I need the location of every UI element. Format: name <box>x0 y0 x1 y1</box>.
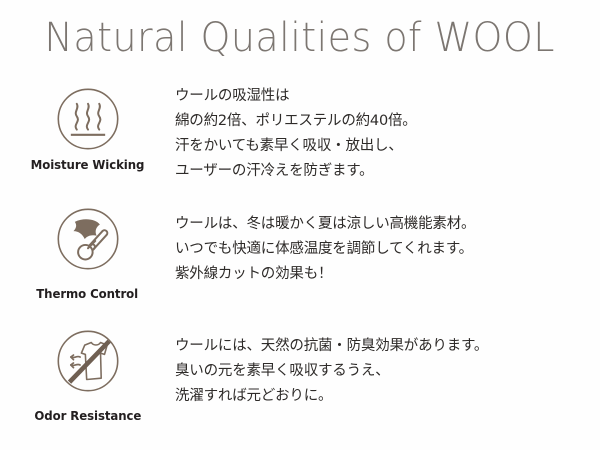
feature-icon-column: Odor Resistance <box>0 326 175 423</box>
page-title-container: Natural Qualities of WOOL <box>0 14 600 62</box>
feature-text-line: ウールの吸湿性は <box>175 84 600 109</box>
feature-text-line: ウールは、冬は暖かく夏は涼しい高機能素材。 <box>175 212 600 237</box>
feature-odor-resistance: Odor Resistance ウールには、天然の抗菌・防臭効果があります。 臭… <box>0 326 600 448</box>
feature-text-line: 臭いの元を素早く吸収するうえ、 <box>175 359 600 384</box>
feature-label: Moisture Wicking <box>31 157 145 172</box>
feature-thermo-control: Thermo Control ウールは、冬は暖かく夏は涼しい高機能素材。 いつで… <box>0 204 600 326</box>
feature-text-line: 紫外線カットの効果も！ <box>175 262 600 287</box>
steam-waves-icon <box>55 86 121 152</box>
feature-text-column: ウールの吸湿性は 綿の約2倍、ポリエステルの約40倍。 汗をかいても素早く吸収・… <box>175 82 600 184</box>
feature-text-line: 汗をかいても素早く吸収・放出し、 <box>175 134 600 159</box>
feature-text-line: ウールには、天然の抗菌・防臭効果があります。 <box>175 334 600 359</box>
feature-icon-column: Moisture Wicking <box>0 82 175 172</box>
feature-label: Odor Resistance <box>34 408 141 423</box>
feature-text-column: ウールには、天然の抗菌・防臭効果があります。 臭いの元を素早く吸収するうえ、 洗… <box>175 326 600 409</box>
feature-text-line: 洗濯すれば元どおりに。 <box>175 384 600 409</box>
feature-text-line: いつでも快適に体感温度を調節してくれます。 <box>175 237 600 262</box>
sun-thermometer-icon <box>55 206 121 272</box>
feature-text-line: ユーザーの汗冷えを防ぎます。 <box>175 159 600 184</box>
feature-label: Thermo Control <box>37 286 139 301</box>
feature-text-column: ウールは、冬は暖かく夏は涼しい高機能素材。 いつでも快適に体感温度を調節してくれ… <box>175 204 600 287</box>
wool-qualities-infographic: Natural Qualities of WOOL Moisture Wicki… <box>0 0 600 450</box>
no-odor-shirt-icon <box>55 328 121 394</box>
feature-moisture-wicking: Moisture Wicking ウールの吸湿性は 綿の約2倍、ポリエステルの約… <box>0 82 600 204</box>
feature-text-line: 綿の約2倍、ポリエステルの約40倍。 <box>175 109 600 134</box>
page-title: Natural Qualities of WOOL <box>45 14 556 62</box>
feature-list: Moisture Wicking ウールの吸湿性は 綿の約2倍、ポリエステルの約… <box>0 82 600 448</box>
feature-icon-column: Thermo Control <box>0 204 175 301</box>
